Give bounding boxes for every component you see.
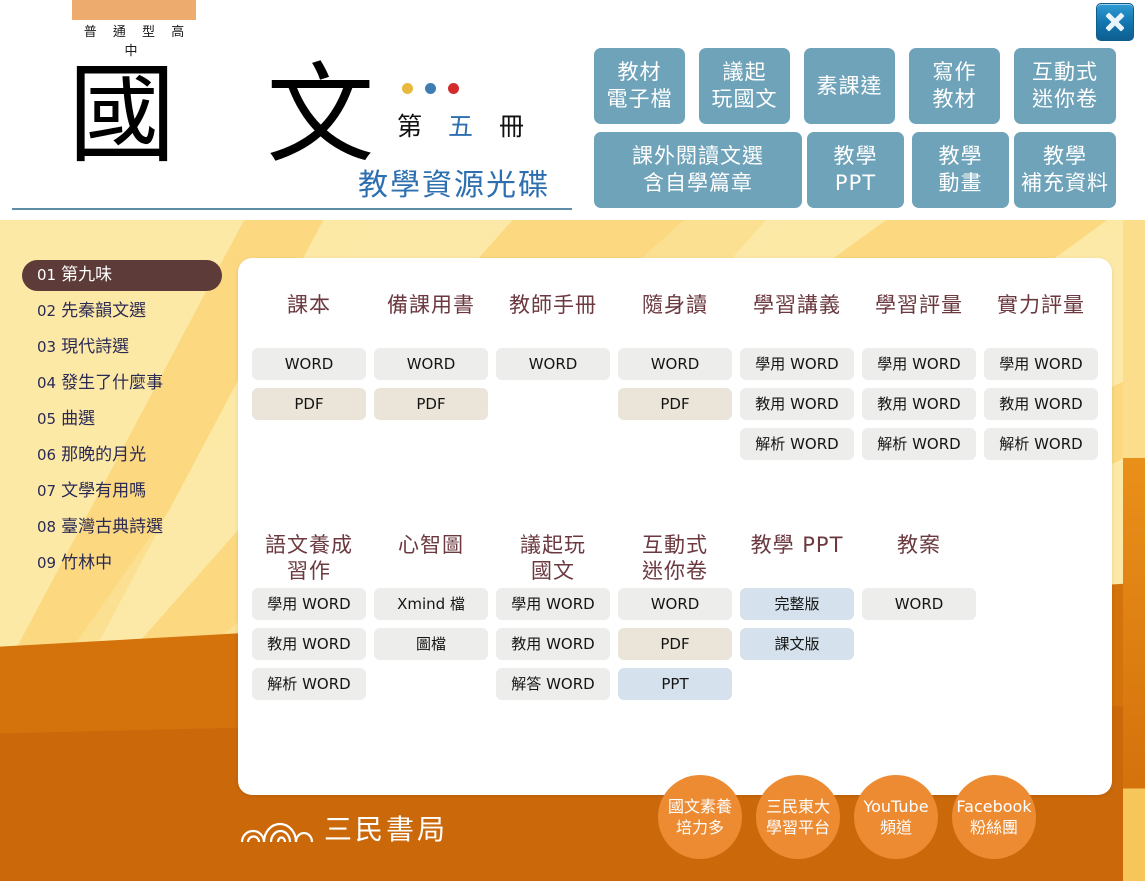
topnav-button-line1: 寫作 (933, 59, 977, 86)
sidebar-item-07[interactable]: 07文學有用嗎 (22, 476, 222, 507)
resource-tile[interactable]: 解析 WORD (984, 428, 1098, 460)
topnav-button-line1: 素課達 (817, 73, 883, 100)
resource-tile[interactable]: 課文版 (740, 628, 854, 660)
resource-tile[interactable]: 完整版 (740, 588, 854, 620)
footer-links: 國文素養培力多三民東大學習平台YouTube頻道Facebook粉絲團 (658, 775, 1036, 859)
resource-tile[interactable]: PDF (374, 388, 488, 420)
resource-tile[interactable]: WORD (496, 348, 610, 380)
resource-tile[interactable]: 教用 WORD (984, 388, 1098, 420)
sidebar-item-number: 07 (37, 482, 56, 500)
close-icon[interactable] (1096, 3, 1134, 41)
resource-column-title: 課本 (287, 292, 331, 348)
topnav-button-line1: 教學 (1021, 143, 1109, 170)
app-root: 普 通 型 高 中 國 文 第五冊 教學資源光碟 教材電子檔議起玩國文素課達寫作… (0, 0, 1145, 881)
top-navigation: 教材電子檔議起玩國文素課達寫作教材互動式迷你卷課外閱讀文選含自學篇章教學PPT教… (594, 48, 1116, 216)
resource-tile[interactable]: 圖檔 (374, 628, 488, 660)
footer-circle-line2: 培力多 (676, 817, 724, 838)
resource-column-title-line1: 互動式 (642, 532, 708, 558)
resource-tile-group: 完整版課文版 (740, 588, 854, 668)
resource-tile[interactable]: 教用 WORD (862, 388, 976, 420)
footer-circle-link-1[interactable]: 國文素養培力多 (658, 775, 742, 859)
header-divider (12, 208, 572, 210)
resource-tile[interactable]: 解析 WORD (252, 668, 366, 700)
resource-tile[interactable]: WORD (252, 348, 366, 380)
resource-column-title-line1: 教案 (897, 532, 941, 558)
resource-tile-group: WORDPDF (618, 348, 732, 428)
volume-suffix: 冊 (499, 112, 550, 141)
resource-column: 學習講義學用 WORD教用 WORD解析 WORD (736, 292, 858, 468)
sidebar-item-label: 文學有用嗎 (61, 481, 146, 501)
topnav-button-9[interactable]: 教學補充資料 (1014, 132, 1116, 208)
sidebar-item-03[interactable]: 03現代詩選 (22, 332, 222, 363)
resource-tile[interactable]: 學用 WORD (252, 588, 366, 620)
sidebar-item-number: 05 (37, 410, 56, 428)
resource-column: 學習評量學用 WORD教用 WORD解析 WORD (858, 292, 980, 468)
resource-column: 教學 PPT完整版課文版 (736, 532, 858, 708)
footer-circle-link-4[interactable]: Facebook粉絲團 (952, 775, 1036, 859)
resource-tile[interactable]: 學用 WORD (984, 348, 1098, 380)
resource-tile-group: 學用 WORD教用 WORD解答 WORD (496, 588, 610, 708)
resource-tile-group: 學用 WORD教用 WORD解析 WORD (252, 588, 366, 708)
topnav-button-line2: 含自學篇章 (632, 170, 764, 197)
resource-column: 議起玩國文學用 WORD教用 WORD解答 WORD (492, 532, 614, 708)
resource-column-title: 心智圖 (398, 532, 464, 588)
footer-circle-line1: YouTube (863, 796, 928, 817)
arch-mark-icon (240, 812, 314, 844)
footer-circle-line1: Facebook (956, 796, 1031, 817)
resource-column-title-line1: 隨身讀 (642, 292, 708, 318)
page-header: 普 通 型 高 中 國 文 第五冊 教學資源光碟 教材電子檔議起玩國文素課達寫作… (0, 0, 1145, 220)
resource-tile[interactable]: PPT (618, 668, 732, 700)
topnav-button-line1: 教學 (834, 143, 878, 170)
background-right-strip (1123, 220, 1145, 881)
sidebar-item-06[interactable]: 06那晚的月光 (22, 440, 222, 471)
dot-blue-icon (425, 83, 436, 94)
resource-column: 備課用書WORDPDF (370, 292, 492, 468)
resource-column-title-line1: 學習評量 (875, 292, 963, 318)
footer-circle-link-2[interactable]: 三民東大學習平台 (756, 775, 840, 859)
sidebar-item-number: 08 (37, 518, 56, 536)
sidebar-item-label: 那晚的月光 (61, 445, 146, 465)
footer-circle-line2: 粉絲團 (970, 817, 1018, 838)
resource-column-title: 互動式迷你卷 (642, 532, 708, 588)
topnav-button-1[interactable]: 教材電子檔 (594, 48, 685, 124)
topnav-button-line2: 玩國文 (712, 86, 778, 113)
topnav-button-line1: 教材 (607, 59, 673, 86)
publisher-name: 三民書局 (324, 808, 448, 848)
topnav-button-5[interactable]: 互動式迷你卷 (1014, 48, 1116, 124)
resource-tile-group: 學用 WORD教用 WORD解析 WORD (740, 348, 854, 468)
resource-column-title: 議起玩國文 (520, 532, 586, 588)
resource-column-title: 實力評量 (997, 292, 1085, 348)
page-title: 國 文 (68, 62, 402, 170)
footer-circle-line2: 學習平台 (766, 817, 830, 838)
footer-circle-link-3[interactable]: YouTube頻道 (854, 775, 938, 859)
sidebar-item-05[interactable]: 05曲選 (22, 404, 222, 435)
resource-column: 實力評量學用 WORD教用 WORD解析 WORD (980, 292, 1102, 468)
sidebar-item-number: 09 (37, 554, 56, 572)
topnav-button-line2: 電子檔 (607, 86, 673, 113)
resource-tile[interactable]: 學用 WORD (740, 348, 854, 380)
footer-circle-line2: 頻道 (880, 817, 912, 838)
publisher-logo: 三民書局 (240, 808, 448, 848)
resource-tile[interactable]: 學用 WORD (496, 588, 610, 620)
topnav-button-4[interactable]: 寫作教材 (909, 48, 1000, 124)
sidebar-item-label: 臺灣古典詩選 (61, 517, 163, 537)
resource-tile[interactable]: WORD (618, 588, 732, 620)
page-subtitle: 教學資源光碟 (358, 160, 550, 204)
resource-column-title: 學習評量 (875, 292, 963, 348)
resource-tile[interactable]: 學用 WORD (862, 348, 976, 380)
sidebar-item-number: 03 (37, 338, 56, 356)
resource-tile-group: 學用 WORD教用 WORD解析 WORD (862, 348, 976, 468)
resource-tile[interactable]: 解答 WORD (496, 668, 610, 700)
resource-column: 教案WORD (858, 532, 980, 708)
resource-tile-group: WORD (862, 588, 976, 628)
resource-tile[interactable]: 教用 WORD (740, 388, 854, 420)
sidebar-item-label: 先秦韻文選 (61, 301, 146, 321)
resource-column-title-line1: 教學 PPT (751, 532, 844, 558)
sidebar-item-09[interactable]: 09竹林中 (22, 548, 222, 579)
resource-column-title: 語文養成習作 (265, 532, 353, 588)
resource-column-title: 教師手冊 (509, 292, 597, 348)
topnav-button-6[interactable]: 課外閱讀文選含自學篇章 (594, 132, 802, 208)
resource-column-title-line1: 議起玩 (520, 532, 586, 558)
resource-tile-group: WORDPDF (374, 348, 488, 428)
resource-tile[interactable]: 解析 WORD (740, 428, 854, 460)
topnav-button-line1: 互動式 (1032, 59, 1098, 86)
sidebar-item-number: 04 (37, 374, 56, 392)
resource-tile[interactable]: Xmind 檔 (374, 588, 488, 620)
resource-tile[interactable]: 教用 WORD (496, 628, 610, 660)
topnav-button-line2: 教材 (933, 86, 977, 113)
resource-column-title-line1: 課本 (287, 292, 331, 318)
volume-prefix: 第 (397, 112, 448, 141)
lesson-sidebar: 01第九味02先秦韻文選03現代詩選04發生了什麼事05曲選06那晚的月光07文… (22, 260, 222, 584)
resource-column-title-line1: 語文養成 (265, 532, 353, 558)
sidebar-item-label: 發生了什麼事 (61, 373, 163, 393)
resource-column-title: 教學 PPT (751, 532, 844, 588)
resource-tile[interactable]: WORD (862, 588, 976, 620)
sidebar-item-08[interactable]: 08臺灣古典詩選 (22, 512, 222, 543)
sidebar-item-label: 第九味 (61, 265, 112, 285)
header-orange-tab (72, 0, 196, 20)
resource-tile[interactable]: PDF (618, 628, 732, 660)
resource-tile-group: Xmind 檔圖檔 (374, 588, 488, 668)
topnav-button-2[interactable]: 議起玩國文 (699, 48, 790, 124)
resource-column-title-line1: 心智圖 (398, 532, 464, 558)
sidebar-item-04[interactable]: 04發生了什麼事 (22, 368, 222, 399)
topnav-button-7[interactable]: 教學PPT (807, 132, 904, 208)
resource-column-title-line2: 迷你卷 (642, 558, 708, 584)
topnav-button-line2: 補充資料 (1021, 170, 1109, 197)
topnav-button-line1: 教學 (939, 143, 983, 170)
sidebar-item-02[interactable]: 02先秦韻文選 (22, 296, 222, 327)
resource-tile[interactable]: 解析 WORD (862, 428, 976, 460)
dot-yellow-icon (402, 83, 413, 94)
resource-tile[interactable]: PDF (252, 388, 366, 420)
resource-row-1: 課本WORDPDF備課用書WORDPDF教師手冊WORD隨身讀WORDPDF學習… (248, 292, 1102, 468)
topnav-button-line2: 動畫 (939, 170, 983, 197)
resource-row-2: 語文養成習作學用 WORD教用 WORD解析 WORD心智圖Xmind 檔圖檔議… (248, 532, 1102, 708)
resource-card: 課本WORDPDF備課用書WORDPDF教師手冊WORD隨身讀WORDPDF學習… (238, 258, 1112, 795)
resource-column-title-line1: 實力評量 (997, 292, 1085, 318)
topnav-button-3[interactable]: 素課達 (804, 48, 895, 124)
resource-column-title-line1: 教師手冊 (509, 292, 597, 318)
sidebar-item-label: 現代詩選 (61, 337, 129, 357)
resource-column-title: 隨身讀 (642, 292, 708, 348)
resource-column: 心智圖Xmind 檔圖檔 (370, 532, 492, 708)
resource-column: 課本WORDPDF (248, 292, 370, 468)
resource-tile[interactable]: WORD (374, 348, 488, 380)
sidebar-item-label: 曲選 (61, 409, 95, 429)
sidebar-item-number: 02 (37, 302, 56, 320)
sidebar-item-number: 01 (37, 266, 56, 284)
topnav-button-line2: 迷你卷 (1032, 86, 1098, 113)
resource-column-title: 學習講義 (753, 292, 841, 348)
resource-tile-group: 學用 WORD教用 WORD解析 WORD (984, 348, 1098, 468)
resource-column-title-line1: 學習講義 (753, 292, 841, 318)
volume-number: 五 (448, 112, 499, 141)
resource-tile-group: WORD (496, 348, 610, 388)
resource-tile[interactable]: 教用 WORD (252, 628, 366, 660)
topnav-button-line2: PPT (834, 170, 878, 197)
dot-red-icon (448, 83, 459, 94)
resource-column: 教師手冊WORD (492, 292, 614, 468)
resource-column-title: 備課用書 (387, 292, 475, 348)
resource-column: 隨身讀WORDPDF (614, 292, 736, 468)
resource-column-title-line2: 國文 (520, 558, 586, 584)
sidebar-item-label: 竹林中 (61, 553, 112, 573)
resource-column-title-line2: 習作 (265, 558, 353, 584)
resource-column: 互動式迷你卷WORDPDFPPT (614, 532, 736, 708)
footer-circle-line1: 三民東大 (766, 796, 830, 817)
volume-label: 第五冊 (397, 107, 550, 143)
sidebar-item-01[interactable]: 01第九味 (22, 260, 222, 291)
footer-circle-line1: 國文素養 (668, 796, 732, 817)
decorative-dots (402, 83, 459, 94)
resource-column: 語文養成習作學用 WORD教用 WORD解析 WORD (248, 532, 370, 708)
resource-tile[interactable]: PDF (618, 388, 732, 420)
topnav-button-line1: 課外閱讀文選 (632, 143, 764, 170)
resource-tile[interactable]: WORD (618, 348, 732, 380)
resource-tile-group: WORDPDFPPT (618, 588, 732, 708)
topnav-button-8[interactable]: 教學動畫 (912, 132, 1009, 208)
sidebar-item-number: 06 (37, 446, 56, 464)
topnav-button-line1: 議起 (712, 59, 778, 86)
resource-column-title: 教案 (897, 532, 941, 588)
resource-column-title-line1: 備課用書 (387, 292, 475, 318)
resource-tile-group: WORDPDF (252, 348, 366, 428)
